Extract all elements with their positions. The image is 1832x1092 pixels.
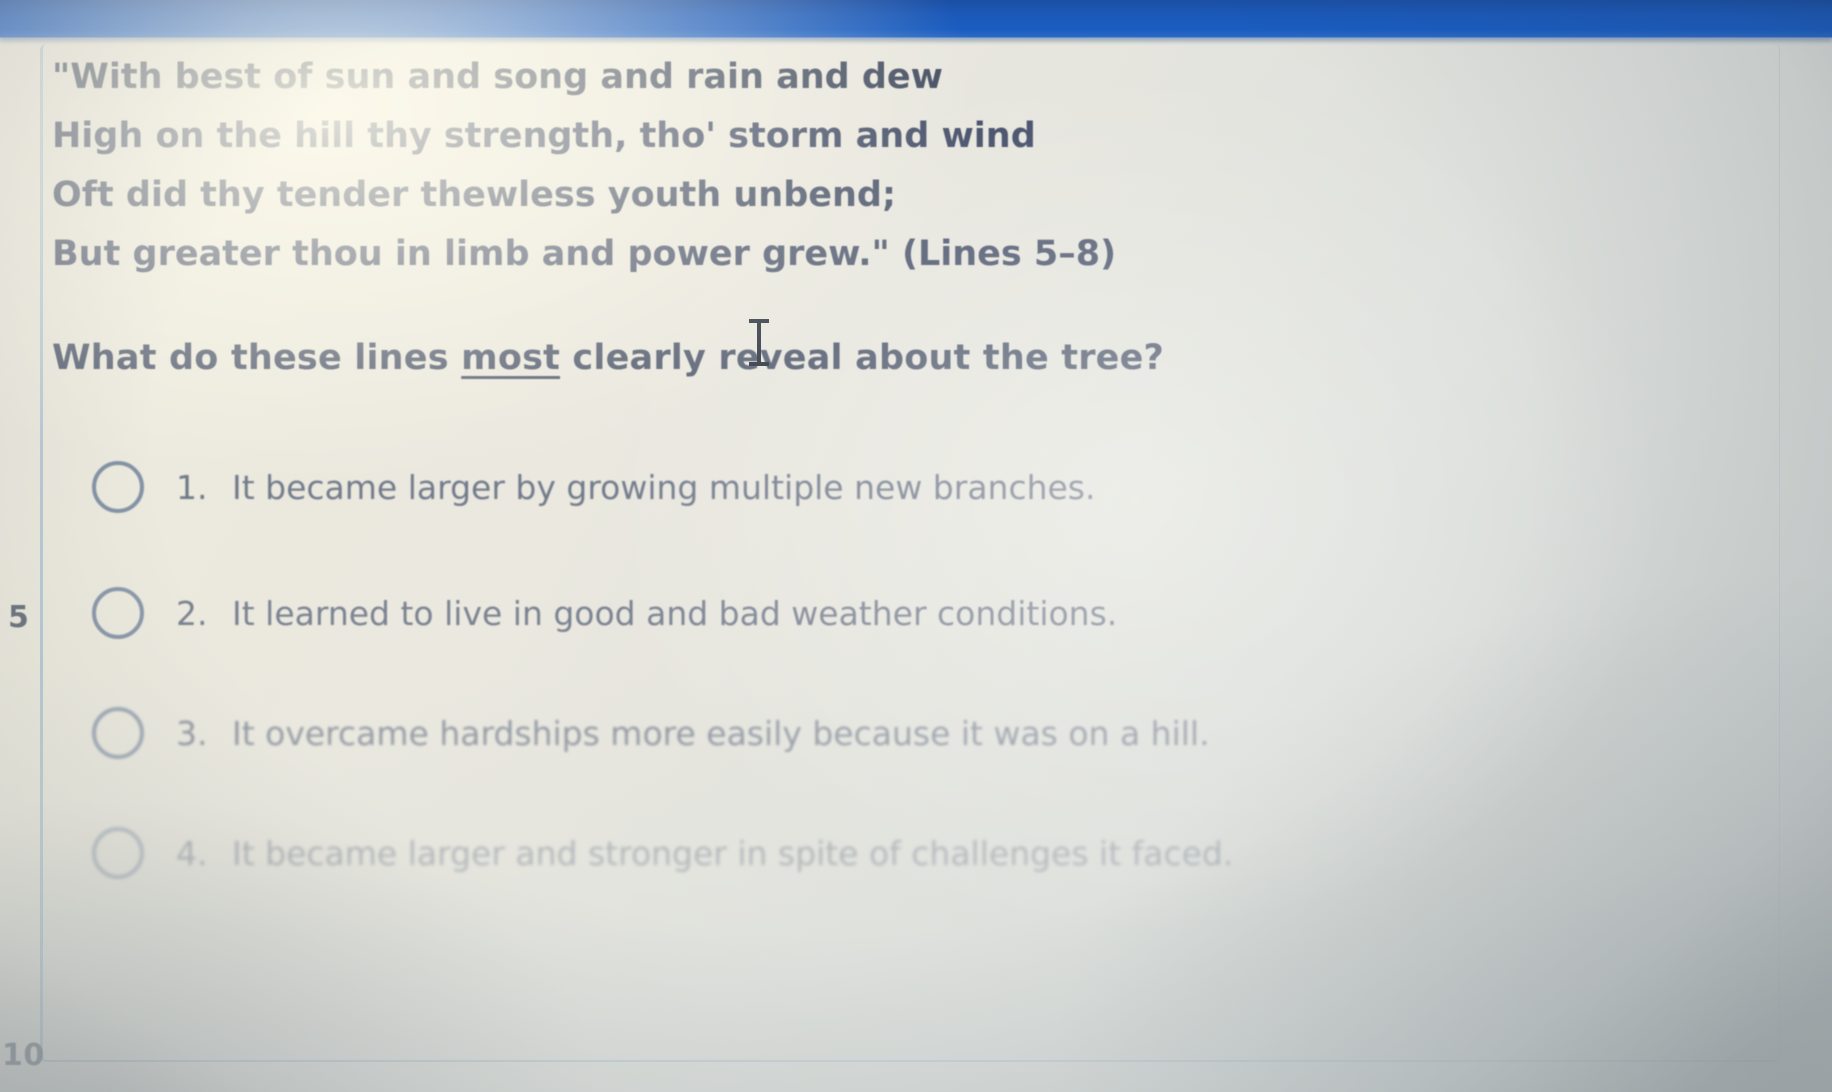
margin-line-number-5: 5 <box>8 600 29 635</box>
option-number-1: 1. <box>176 468 216 507</box>
margin-line-number-10: 10 <box>2 1038 45 1073</box>
option-label-3: It overcame hardships more easily becaus… <box>232 714 1210 753</box>
app-header-bar <box>0 0 1832 38</box>
poem-line-3: Oft did thy tender thewless youth unbend… <box>52 166 1552 225</box>
option-label-4: It became larger and stronger in spite o… <box>232 834 1233 873</box>
question-prompt: What do these lines most clearly reveal … <box>52 338 1164 378</box>
prompt-suffix: clearly reveal about the tree? <box>560 338 1164 378</box>
answer-option-3[interactable]: 3. It overcame hardships more easily bec… <box>92 698 1210 768</box>
option-label-2: It learned to live in good and bad weath… <box>232 594 1117 633</box>
answer-option-1[interactable]: 1. It became larger by growing multiple … <box>92 452 1096 522</box>
answer-option-2[interactable]: 2. It learned to live in good and bad we… <box>92 578 1117 648</box>
prompt-prefix: What do these lines <box>52 338 461 378</box>
option-label-1: It became larger by growing multiple new… <box>232 468 1096 507</box>
screen-photo: 5 10 "With best of sun and song and rain… <box>0 0 1832 1092</box>
radio-button-icon-2[interactable] <box>92 587 144 639</box>
option-number-2: 2. <box>176 594 216 633</box>
poem-line-1: "With best of sun and song and rain and … <box>52 48 1552 107</box>
poem-line-4: But greater thou in limb and power grew.… <box>52 225 1552 284</box>
radio-button-icon-1[interactable] <box>92 461 144 513</box>
prompt-emphasis-most: most <box>461 338 560 378</box>
option-number-3: 3. <box>176 714 216 753</box>
poem-line-2: High on the hill thy strength, tho' stor… <box>52 107 1552 166</box>
answer-option-4[interactable]: 4. It became larger and stronger in spit… <box>92 818 1233 888</box>
radio-button-icon-4[interactable] <box>92 827 144 879</box>
option-number-4: 4. <box>176 834 216 873</box>
radio-button-icon-3[interactable] <box>92 707 144 759</box>
poem-excerpt: "With best of sun and song and rain and … <box>52 48 1552 284</box>
